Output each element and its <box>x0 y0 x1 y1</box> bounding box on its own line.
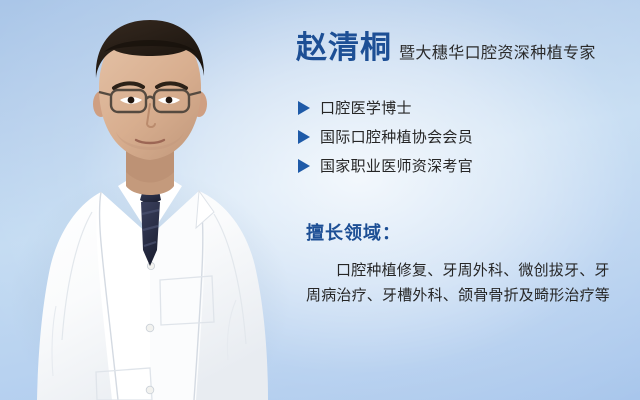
credentials-list: 口腔医学博士 国际口腔种植协会会员 国家职业医师资深考官 <box>298 93 473 180</box>
info-panel: 赵清桐暨大穗华口腔资深种植专家 口腔医学博士 国际口腔种植协会会员 国家职业医师… <box>292 0 640 400</box>
doctor-head <box>93 20 207 160</box>
doctor-profile-banner: 赵清桐暨大穗华口腔资深种植专家 口腔医学博士 国际口腔种植协会会员 国家职业医师… <box>0 0 640 400</box>
list-item: 国家职业医师资深考官 <box>298 151 473 180</box>
doctor-title-row: 赵清桐暨大穗华口腔资深种植专家 <box>296 32 596 63</box>
triangle-right-icon <box>298 130 310 144</box>
credential-label: 国家职业医师资深考官 <box>320 155 473 176</box>
specialty-heading: 擅长领域： <box>306 219 624 245</box>
triangle-right-icon <box>298 101 310 115</box>
doctor-name: 赵清桐 <box>296 30 392 65</box>
triangle-right-icon <box>298 159 310 173</box>
credential-label: 口腔医学博士 <box>320 97 412 118</box>
specialty-section: 擅长领域： 口腔种植修复、牙周外科、微创拔牙、牙周病治疗、牙槽外科、颌骨骨折及畸… <box>306 219 624 308</box>
list-item: 国际口腔种植协会会员 <box>298 122 473 151</box>
credential-label: 国际口腔种植协会会员 <box>320 126 473 147</box>
doctor-photo <box>0 0 300 400</box>
list-item: 口腔医学博士 <box>298 93 473 122</box>
doctor-subtitle: 暨大穗华口腔资深种植专家 <box>399 45 596 62</box>
specialty-body: 口腔种植修复、牙周外科、微创拔牙、牙周病治疗、牙槽外科、颌骨骨折及畸形治疗等 <box>306 258 624 308</box>
